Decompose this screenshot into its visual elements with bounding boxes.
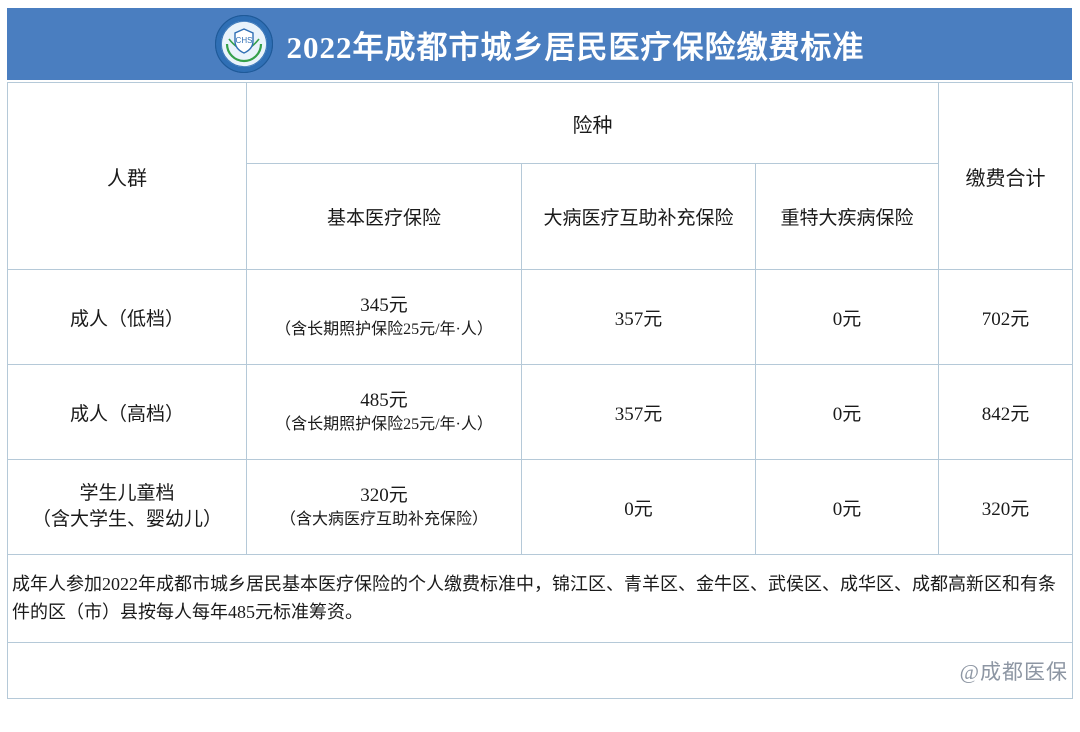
footnote-text: 成年人参加2022年成都市城乡居民基本医疗保险的个人缴费标准中，锦江区、青羊区、… [8, 555, 1073, 643]
people-label-line2: （含大学生、婴幼儿） [12, 507, 242, 533]
people-label-line1: 学生儿童档 [12, 481, 242, 507]
row-critical-amount: 0元 [756, 365, 939, 460]
row-total-amount: 320元 [939, 460, 1073, 555]
row-serious-amount: 357元 [522, 270, 756, 365]
row-basic-amount: 345元 （含长期照护保险25元/年·人） [247, 270, 522, 365]
basic-amount-main: 345元 [251, 293, 517, 319]
row-serious-amount: 0元 [522, 460, 756, 555]
header-people: 人群 [8, 83, 247, 270]
fee-standard-table-wrapper: 人群 险种 缴费合计 基本医疗保险 大病医疗互助补充保险 重特大疾病保险 成人（… [7, 82, 1072, 699]
header-total: 缴费合计 [939, 83, 1073, 270]
table-row: 成人（低档） 345元 （含长期照护保险25元/年·人） 357元 0元 702… [8, 270, 1073, 365]
row-basic-amount: 320元 （含大病医疗互助补充保险） [247, 460, 522, 555]
table-watermark-row: @成都医保 [8, 643, 1073, 699]
header-basic-insurance: 基本医疗保险 [247, 164, 522, 270]
table-row: 成人（高档） 485元 （含长期照护保险25元/年·人） 357元 0元 842… [8, 365, 1073, 460]
row-critical-amount: 0元 [756, 270, 939, 365]
header-insurance-group: 险种 [247, 83, 939, 164]
table-note-row: 成年人参加2022年成都市城乡居民基本医疗保险的个人缴费标准中，锦江区、青羊区、… [8, 555, 1073, 643]
row-total-amount: 702元 [939, 270, 1073, 365]
page-title: 2022年成都市城乡居民医疗保险缴费标准 [287, 22, 865, 67]
watermark-label: @成都医保 [960, 660, 1068, 684]
header-critical-illness-insurance: 重特大疾病保险 [756, 164, 939, 270]
header-serious-illness-insurance: 大病医疗互助补充保险 [522, 164, 756, 270]
watermark-cell: @成都医保 [8, 643, 1073, 699]
title-banner: CHS 2022年成都市城乡居民医疗保险缴费标准 [7, 8, 1072, 80]
chengdu-healthcare-security-emblem-icon: CHS [215, 15, 273, 73]
table-header-group-row: 人群 险种 缴费合计 [8, 83, 1073, 164]
basic-amount-main: 320元 [251, 483, 517, 509]
row-serious-amount: 357元 [522, 365, 756, 460]
basic-amount-note: （含长期照护保险25元/年·人） [251, 414, 517, 436]
basic-amount-main: 485元 [251, 388, 517, 414]
table-row: 学生儿童档 （含大学生、婴幼儿） 320元 （含大病医疗互助补充保险） 0元 0… [8, 460, 1073, 555]
fee-standard-table: 人群 险种 缴费合计 基本医疗保险 大病医疗互助补充保险 重特大疾病保险 成人（… [7, 82, 1073, 699]
basic-amount-note: （含长期照护保险25元/年·人） [251, 319, 517, 341]
svg-text:CHS: CHS [235, 36, 252, 45]
row-critical-amount: 0元 [756, 460, 939, 555]
row-basic-amount: 485元 （含长期照护保险25元/年·人） [247, 365, 522, 460]
row-people-label: 成人（高档） [8, 365, 247, 460]
page-root: CHS 2022年成都市城乡居民医疗保险缴费标准 人群 险种 缴费合计 基本医疗… [0, 0, 1080, 732]
row-people-label: 学生儿童档 （含大学生、婴幼儿） [8, 460, 247, 555]
row-people-label: 成人（低档） [8, 270, 247, 365]
basic-amount-note: （含大病医疗互助补充保险） [251, 509, 517, 531]
row-total-amount: 842元 [939, 365, 1073, 460]
